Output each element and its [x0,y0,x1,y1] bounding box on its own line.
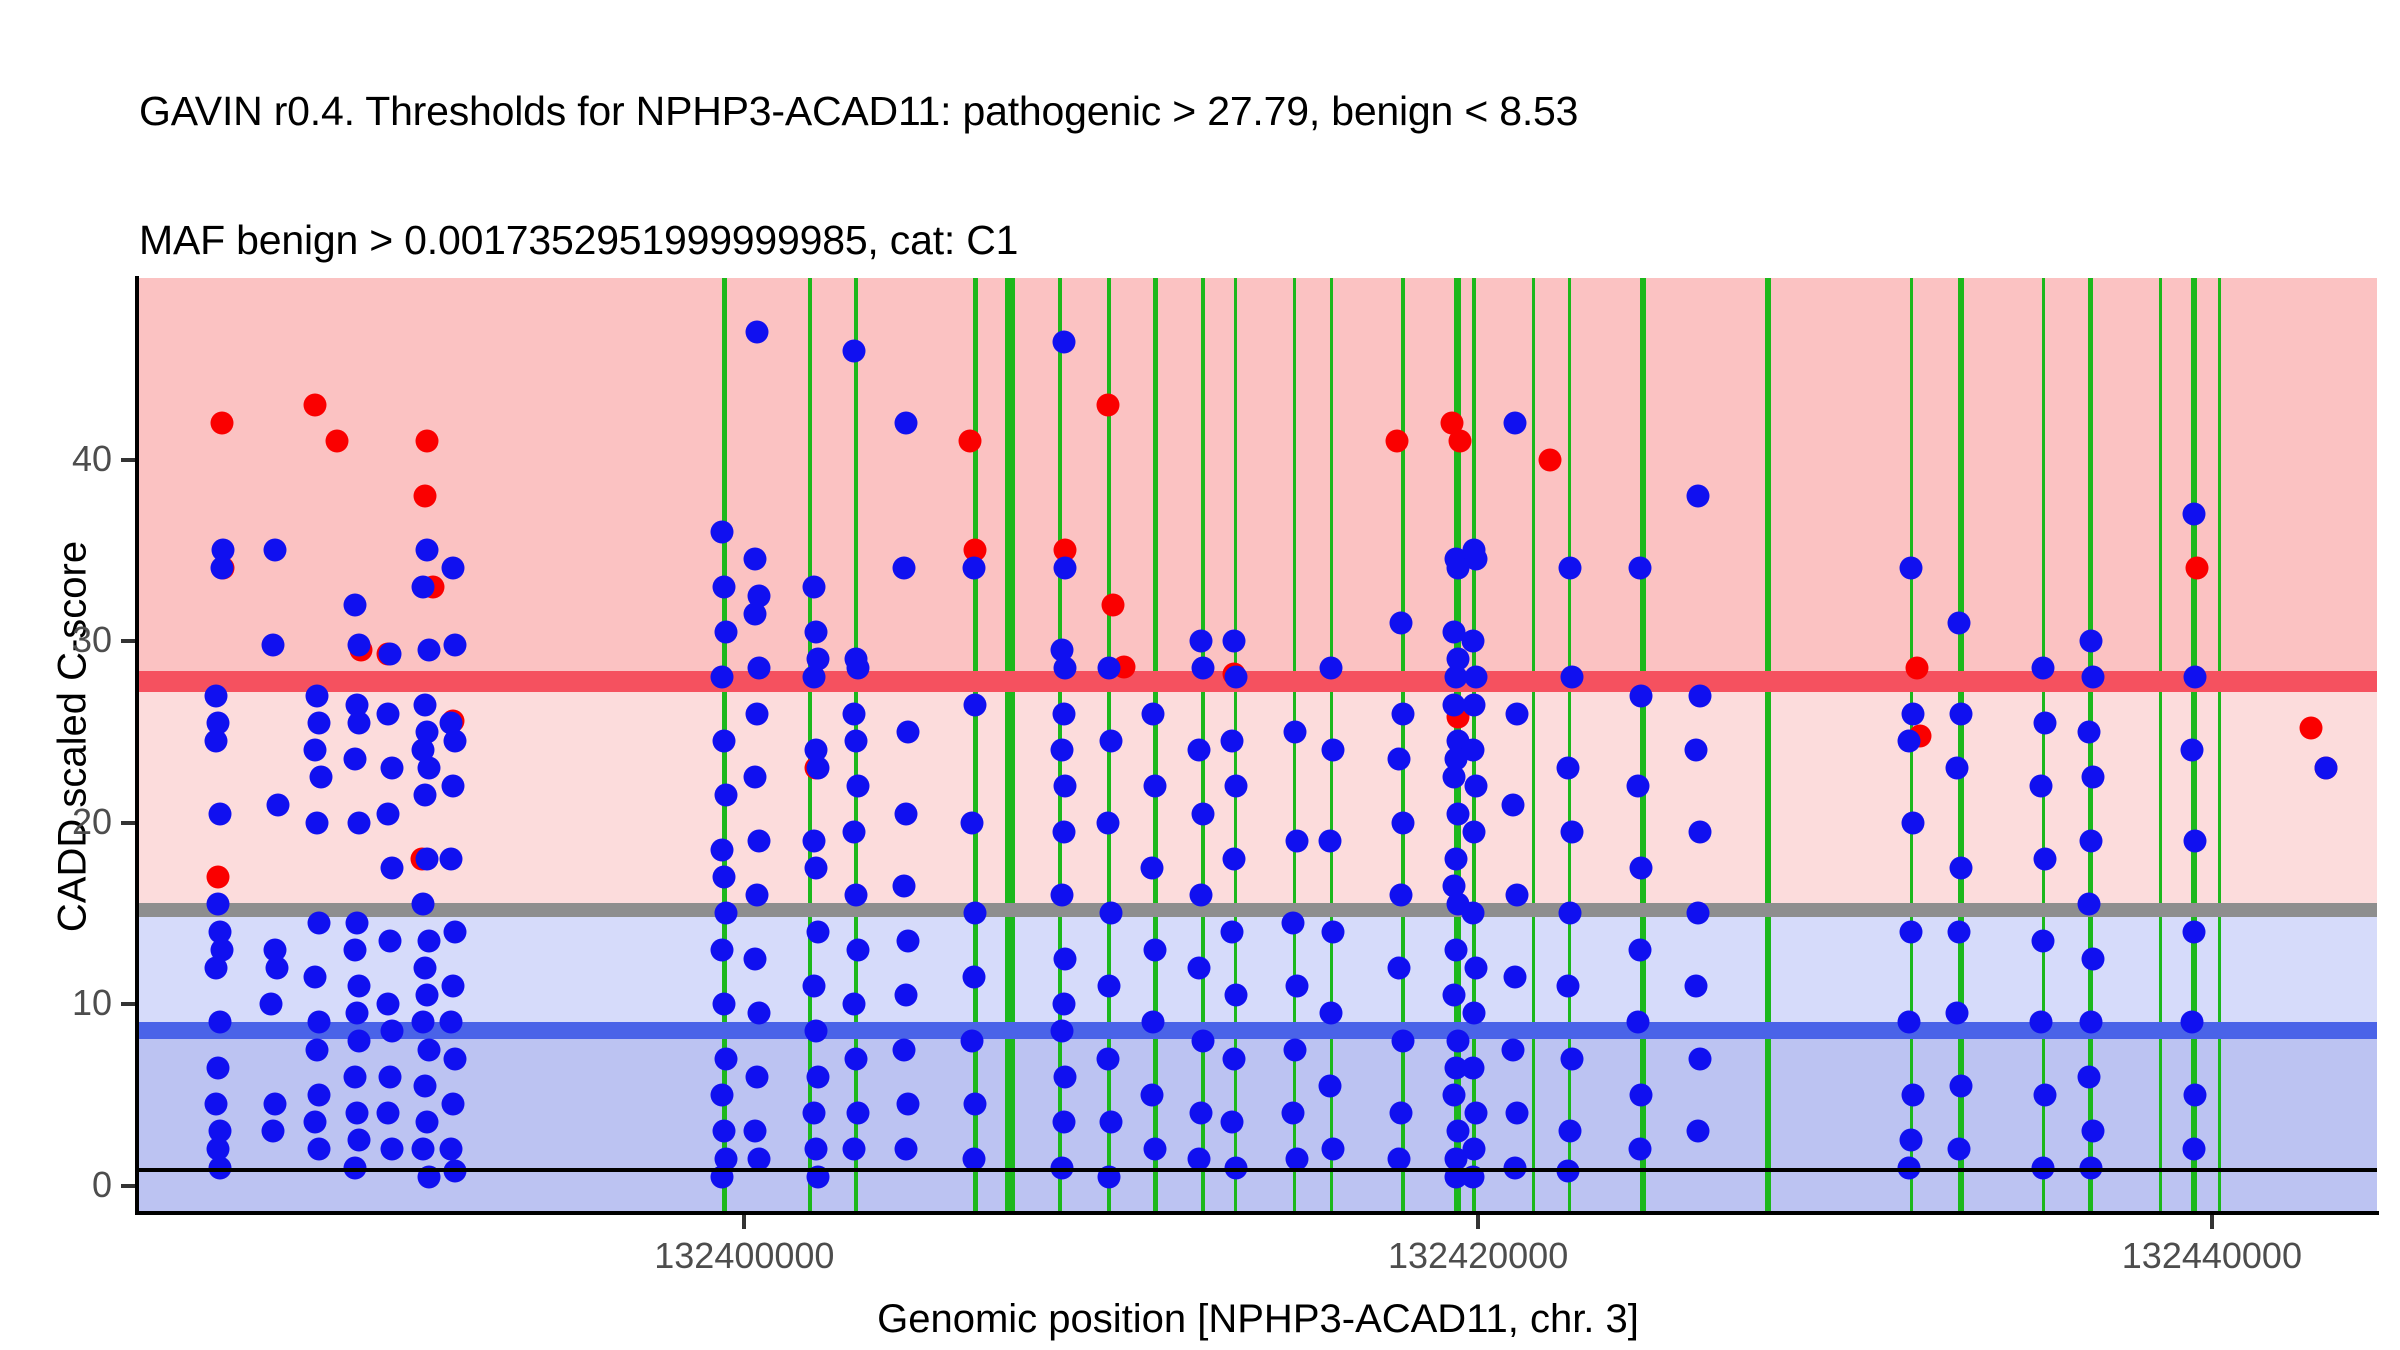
data-point [1224,775,1247,798]
data-point [348,711,371,734]
data-point [1386,430,1409,453]
data-point [715,1047,738,1070]
data-point [261,1120,284,1143]
data-point [1901,702,1924,725]
data-point [379,1065,402,1088]
data-point [803,1102,826,1125]
data-point [1461,630,1484,653]
data-point [2032,929,2055,952]
data-point [416,984,439,1007]
data-point [377,993,400,1016]
data-point [2077,893,2100,916]
data-point [443,729,466,752]
data-point [1224,666,1247,689]
data-point [344,748,367,771]
data-point [1322,920,1345,943]
data-point [1558,902,1581,925]
data-point [713,729,736,752]
data-point [381,857,404,880]
data-point [843,993,866,1016]
data-point [443,633,466,656]
data-point [1465,775,1488,798]
data-point [748,829,771,852]
data-point [2184,829,2207,852]
data-point [1949,857,1972,880]
data-point [1281,1102,1304,1125]
data-point [804,621,827,644]
data-point [309,766,332,789]
data-point [2182,1138,2205,1161]
data-point [843,820,866,843]
data-point [1898,1011,1921,1034]
data-point [1630,1083,1653,1106]
data-point [962,1147,985,1170]
data-point [2184,666,2207,689]
data-point [1505,702,1528,725]
data-point [1949,702,1972,725]
data-point [205,1093,228,1116]
data-point [1689,820,1712,843]
data-point [843,339,866,362]
data-point [443,920,466,943]
data-point [2081,766,2104,789]
data-point [414,1074,437,1097]
y-tick-label: 40 [0,438,112,480]
data-point [1223,1047,1246,1070]
data-point [715,621,738,644]
data-point [1102,593,1125,616]
data-point [307,711,330,734]
data-point [348,811,371,834]
data-point [1630,684,1653,707]
data-point [1283,1038,1306,1061]
data-point [1443,766,1466,789]
data-point [1281,911,1304,934]
data-point [1558,557,1581,580]
data-point [1503,412,1526,435]
x-tick-label: 132420000 [1278,1235,1678,1277]
exon-line [2159,278,2162,1213]
data-point [2033,711,2056,734]
data-point [964,693,987,716]
data-point [1054,1065,1077,1088]
data-point [843,702,866,725]
data-point [2182,920,2205,943]
data-point [1505,1102,1528,1125]
data-point [414,693,437,716]
y-tick-mark [121,821,135,825]
data-point [1142,702,1165,725]
data-point [715,784,738,807]
data-point [744,602,767,625]
data-point [744,1120,767,1143]
data-point [1285,1147,1308,1170]
data-point [845,1047,868,1070]
data-point [1096,1047,1119,1070]
data-point [892,557,915,580]
y-tick-label: 0 [0,1164,112,1206]
data-point [412,1011,435,1034]
data-point [711,521,734,544]
exon-line [1640,278,1646,1213]
exon-line [1568,278,1571,1213]
data-point [1191,802,1214,825]
data-point [1465,548,1488,571]
data-point [1191,1029,1214,1052]
data-point [441,975,464,998]
data-point [1052,820,1075,843]
data-point [208,1011,231,1034]
data-point [1900,920,1923,943]
data-point [1465,956,1488,979]
data-point [307,911,330,934]
data-point [416,1111,439,1134]
data-point [1445,847,1468,870]
data-point [305,811,328,834]
x-axis-line [137,1211,2379,1215]
data-point [1560,820,1583,843]
data-point [439,1138,462,1161]
data-point [1322,1138,1345,1161]
data-point [1052,330,1075,353]
data-point [1463,820,1486,843]
data-point [1283,720,1306,743]
data-point [2032,657,2055,680]
data-point [1054,775,1077,798]
data-point [1947,920,1970,943]
data-point [1626,775,1649,798]
data-point [1224,984,1247,1007]
data-point [1190,1102,1213,1125]
y-tick-label: 30 [0,619,112,661]
data-point [210,412,233,435]
data-point [305,684,328,707]
data-point [744,548,767,571]
data-point [746,702,769,725]
data-point [326,430,349,453]
data-point [1461,1056,1484,1079]
data-point [803,666,826,689]
data-point [896,929,919,952]
data-point [1100,729,1123,752]
data-point [1050,739,1073,762]
data-point [1463,1002,1486,1025]
exon-line [973,278,978,1213]
x-tick-mark [742,1215,746,1229]
data-point [381,1020,404,1043]
data-point [2081,666,2104,689]
data-point [377,802,400,825]
data-point [263,539,286,562]
data-point [1503,965,1526,988]
data-point [1098,975,1121,998]
data-point [1322,739,1345,762]
data-point [2314,757,2337,780]
data-point [1221,729,1244,752]
data-point [441,1093,464,1116]
data-point [441,775,464,798]
data-point [746,884,769,907]
y-tick-label: 10 [0,982,112,1024]
data-point [2180,739,2203,762]
y-tick-label: 20 [0,801,112,843]
panel-bottom-rule [139,1168,2377,1172]
data-point [304,394,327,417]
data-point [1140,857,1163,880]
data-point [1054,947,1077,970]
data-point [307,1011,330,1034]
data-point [416,539,439,562]
data-point [1054,557,1077,580]
y-tick-mark [121,458,135,462]
data-point [1285,975,1308,998]
data-point [1190,884,1213,907]
data-point [1391,702,1414,725]
data-point [307,1083,330,1106]
data-point [896,1093,919,1116]
data-point [381,757,404,780]
data-point [1628,557,1651,580]
data-point [1900,557,1923,580]
data-point [1898,729,1921,752]
data-point [2081,1120,2104,1143]
data-point [1388,956,1411,979]
data-point [1446,1120,1469,1143]
data-point [417,1038,440,1061]
data-point [1221,1111,1244,1134]
data-point [304,739,327,762]
data-point [1144,938,1167,961]
data-point [1144,1138,1167,1161]
exon-line [2218,278,2221,1213]
data-point [205,956,228,979]
data-point [1560,1047,1583,1070]
data-point [715,902,738,925]
data-point [1140,1083,1163,1106]
data-point [377,1102,400,1125]
data-point [1900,1129,1923,1152]
x-tick-mark [2210,1215,2214,1229]
data-point [892,875,915,898]
data-point [1626,1011,1649,1034]
data-point [1318,829,1341,852]
data-point [1390,884,1413,907]
data-point [744,947,767,970]
title-line-1: GAVIN r0.4. Thresholds for NPHP3-ACAD11:… [139,90,2239,133]
data-point [803,829,826,852]
data-point [417,639,440,662]
data-point [2079,630,2102,653]
data-point [806,757,829,780]
data-point [2184,1083,2207,1106]
y-tick-mark [121,1184,135,1188]
data-point [1445,938,1468,961]
data-point [348,1129,371,1152]
data-point [344,1065,367,1088]
data-point [2033,847,2056,870]
data-point [960,1029,983,1052]
data-point [713,993,736,1016]
data-point [205,684,228,707]
data-point [1538,448,1561,471]
data-point [348,975,371,998]
data-point [304,1111,327,1134]
data-point [210,557,233,580]
data-point [1905,657,1928,680]
data-point [1685,975,1708,998]
data-point [894,802,917,825]
data-point [379,642,402,665]
data-point [711,1083,734,1106]
data-point [1318,1074,1341,1097]
data-point [261,633,284,656]
data-point [443,1047,466,1070]
data-point [1096,811,1119,834]
data-point [2030,775,2053,798]
data-point [2033,1083,2056,1106]
data-point [416,430,439,453]
data-point [414,484,437,507]
x-axis-label: Genomic position [NPHP3-ACAD11, chr. 3] [139,1297,2377,1342]
data-point [1052,993,1075,1016]
data-point [1630,857,1653,880]
data-point [1098,657,1121,680]
data-point [2030,1011,2053,1034]
data-point [1054,657,1077,680]
data-point [2077,1065,2100,1088]
data-point [1465,1102,1488,1125]
data-point [1050,1020,1073,1043]
data-point [1391,811,1414,834]
data-point [1388,748,1411,771]
exon-line [1532,278,1535,1213]
data-point [748,1002,771,1025]
data-point [1465,666,1488,689]
data-point [1221,920,1244,943]
data-point [1687,902,1710,925]
data-point [2299,717,2322,740]
data-point [1945,757,1968,780]
data-point [1142,1011,1165,1034]
data-point [962,965,985,988]
data-point [441,557,464,580]
data-point [1320,657,1343,680]
data-point [711,838,734,861]
data-point [806,920,829,943]
data-point [1448,430,1471,453]
data-point [2186,557,2209,580]
data-point [1689,684,1712,707]
data-point [1901,1083,1924,1106]
data-point [845,729,868,752]
data-point [260,993,283,1016]
data-point [713,866,736,889]
data-point [206,866,229,889]
data-point [2081,947,2104,970]
x-tick-label: 132400000 [544,1235,944,1277]
data-point [964,902,987,925]
data-point [2077,720,2100,743]
data-point [1945,1002,1968,1025]
data-point [381,1138,404,1161]
data-point [711,666,734,689]
data-point [265,956,288,979]
data-point [1100,1111,1123,1134]
x-tick-label: 132440000 [2012,1235,2400,1277]
exon-line [2042,278,2045,1213]
data-point [346,911,369,934]
data-point [344,593,367,616]
data-point [847,657,870,680]
data-point [1144,775,1167,798]
data-point [1558,1120,1581,1143]
data-point [1096,394,1119,417]
data-point [1446,1029,1469,1052]
data-point [348,633,371,656]
data-point [206,893,229,916]
data-point [1443,1083,1466,1106]
data-point [746,1065,769,1088]
data-point [2079,1011,2102,1034]
data-point [847,1102,870,1125]
data-point [1501,1038,1524,1061]
data-point [2180,1011,2203,1034]
data-point [804,1020,827,1043]
data-point [803,575,826,598]
data-point [412,575,435,598]
data-point [1191,657,1214,680]
data-point [958,430,981,453]
data-point [1949,1074,1972,1097]
data-point [1560,666,1583,689]
data-point [1320,1002,1343,1025]
data-point [845,884,868,907]
data-point [1557,975,1580,998]
data-point [1188,956,1211,979]
data-point [804,857,827,880]
data-point [417,929,440,952]
data-point [1461,739,1484,762]
data-point [713,1120,736,1143]
data-point [804,1138,827,1161]
data-point [1391,1029,1414,1052]
data-point [1285,829,1308,852]
data-point [304,965,327,988]
data-point [1190,630,1213,653]
data-point [713,575,736,598]
data-point [267,793,290,816]
data-point [746,321,769,344]
data-point [1501,793,1524,816]
data-point [1463,693,1486,716]
data-point [1947,611,1970,634]
data-point [1188,1147,1211,1170]
data-point [2079,829,2102,852]
data-point [377,702,400,725]
data-point [346,1002,369,1025]
data-point [894,1138,917,1161]
data-point [417,757,440,780]
data-point [348,1029,371,1052]
data-point [1390,611,1413,634]
data-point [1505,884,1528,907]
exon-line [1293,278,1296,1213]
data-point [894,984,917,1007]
data-point [305,1038,328,1061]
y-axis-line [135,276,139,1215]
data-point [439,1011,462,1034]
data-point [439,847,462,870]
